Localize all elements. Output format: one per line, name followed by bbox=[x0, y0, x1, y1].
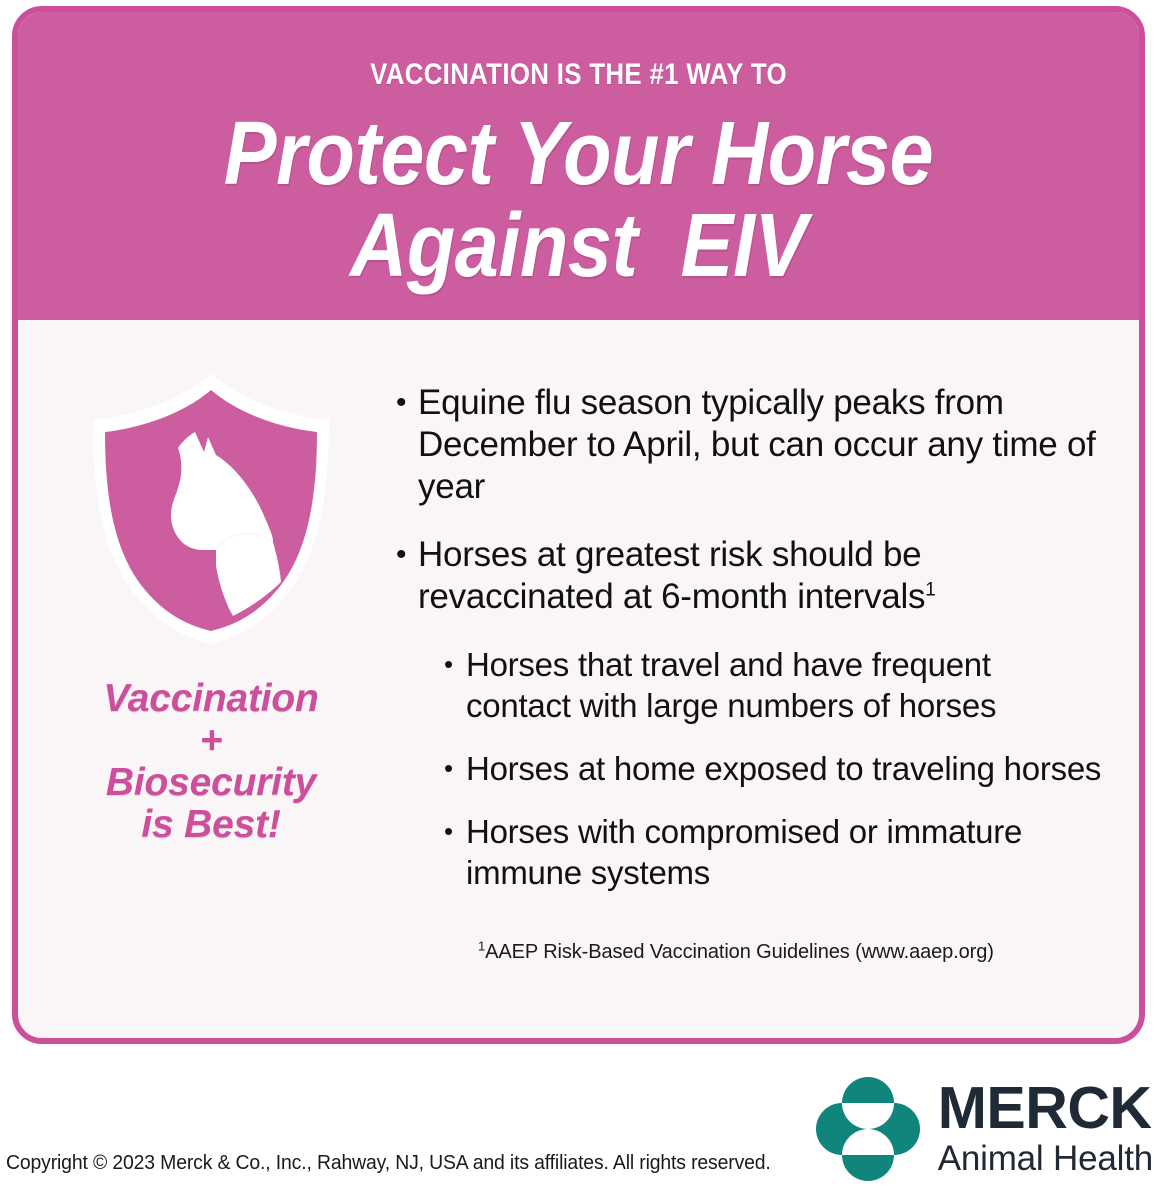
left-panel: Vaccination + Biosecurity is Best! bbox=[46, 370, 376, 846]
sub-bullet-text: Horses that travel and have frequent con… bbox=[466, 644, 1103, 726]
merck-animal-health-logo: MERCK Animal Health bbox=[814, 1075, 1153, 1183]
header-title-line-2: Against EIV bbox=[85, 200, 1071, 292]
bullet-text: Equine flu season typically peaks from D… bbox=[418, 382, 1103, 508]
sub-bullet-text: Horses at home exposed to traveling hors… bbox=[466, 748, 1103, 789]
bullet-marker-icon: • bbox=[444, 811, 466, 851]
tagline-line-3: Biosecurity bbox=[46, 762, 376, 804]
tagline-line-4: is Best! bbox=[46, 804, 376, 846]
sub-bullet-item: • Horses that travel and have frequent c… bbox=[396, 644, 1103, 726]
bullet-text: Horses at greatest risk should be revacc… bbox=[418, 534, 1103, 618]
tagline-block: Vaccination + Biosecurity is Best! bbox=[46, 678, 376, 846]
bullet-marker-icon: • bbox=[396, 382, 418, 424]
copyright-text: Copyright © 2023 Merck & Co., Inc., Rahw… bbox=[6, 1152, 771, 1175]
footnote-ref: 1 bbox=[925, 579, 935, 600]
footnote-text: AAEP Risk-Based Vaccination Guidelines (… bbox=[485, 941, 994, 963]
card-header: VACCINATION IS THE #1 WAY TO Protect You… bbox=[18, 12, 1139, 320]
header-title: Protect Your Horse Against EIV bbox=[85, 108, 1071, 292]
bullet-item: • Horses at greatest risk should be reva… bbox=[396, 534, 1103, 618]
merck-clover-logo-icon bbox=[814, 1075, 922, 1183]
bullet-marker-icon: • bbox=[444, 644, 466, 684]
header-eyebrow: VACCINATION IS THE #1 WAY TO bbox=[96, 58, 1060, 92]
tagline-line-1: Vaccination bbox=[46, 678, 376, 720]
shield-horse-icon bbox=[77, 370, 345, 648]
merck-wordmark-block: MERCK Animal Health bbox=[938, 1079, 1153, 1179]
sub-bullet-item: • Horses at home exposed to traveling ho… bbox=[396, 748, 1103, 789]
bullet-list: • Equine flu season typically peaks from… bbox=[396, 382, 1103, 965]
merck-wordmark: MERCK bbox=[938, 1079, 1153, 1137]
bullet-marker-icon: • bbox=[396, 534, 418, 576]
sub-bullet-text: Horses with compromised or immature immu… bbox=[466, 811, 1103, 893]
bullet-marker-icon: • bbox=[444, 748, 466, 788]
sub-bullet-item: • Horses with compromised or immature im… bbox=[396, 811, 1103, 893]
merck-tagline: Animal Health bbox=[938, 1139, 1153, 1179]
header-title-line-1: Protect Your Horse bbox=[85, 108, 1071, 200]
card-body: Vaccination + Biosecurity is Best! • Equ… bbox=[18, 320, 1139, 1038]
infographic-card: VACCINATION IS THE #1 WAY TO Protect You… bbox=[12, 6, 1145, 1044]
bullet-item: • Equine flu season typically peaks from… bbox=[396, 382, 1103, 508]
footnote: 1AAEP Risk-Based Vaccination Guidelines … bbox=[478, 939, 1103, 965]
tagline-line-2: + bbox=[46, 720, 376, 762]
